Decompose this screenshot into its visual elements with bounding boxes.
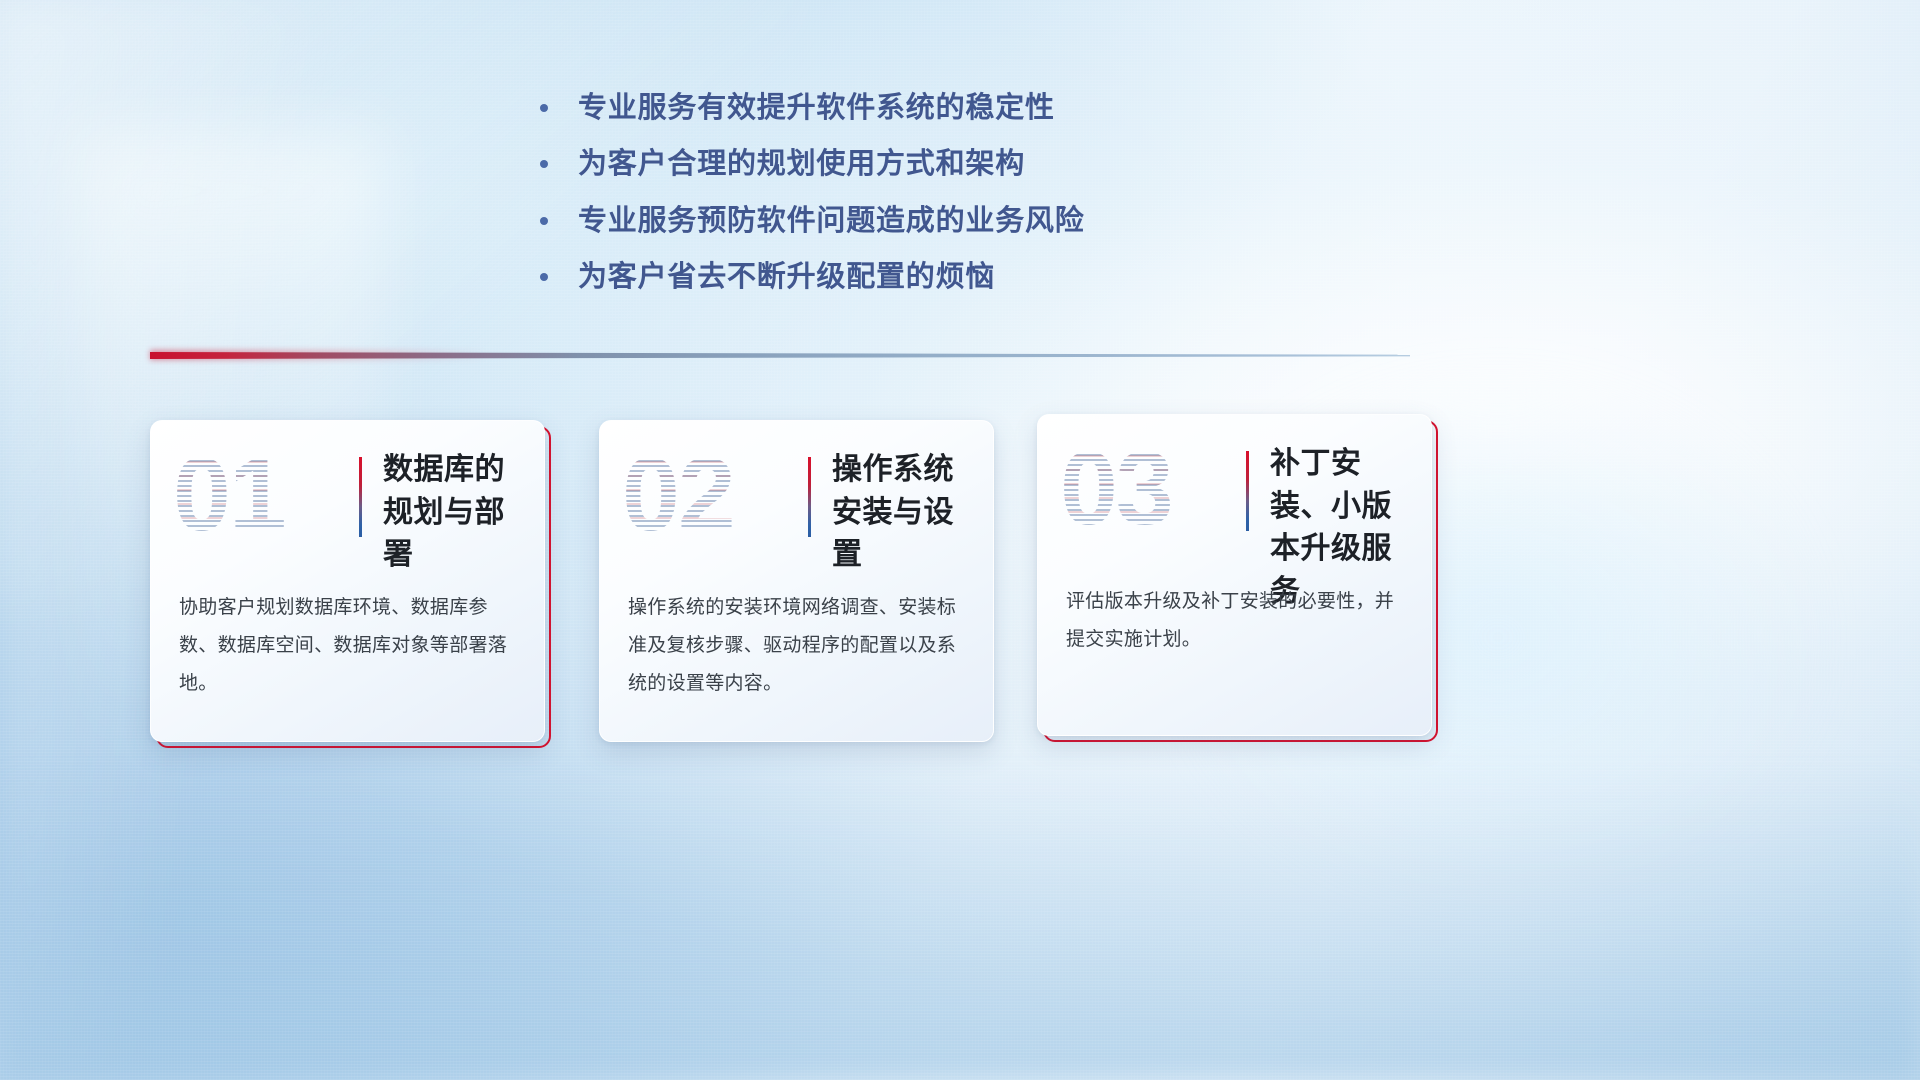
bullet-text: 专业服务预防软件问题造成的业务风险	[578, 203, 1085, 239]
card-number-watermark-tint: 01	[173, 443, 285, 547]
card-divider-bar	[1246, 451, 1249, 531]
card-header: 01 01 数据库的规划与部署	[151, 421, 544, 571]
service-card-03[interactable]: 03 03 补丁安装、小版本升级服务 评估版本升级及补丁安装的必要性，并提交实施…	[1043, 420, 1438, 742]
bullet-dot-icon	[540, 160, 548, 168]
card-surface[interactable]: 01 01 数据库的规划与部署 协助客户规划数据库环境、数据库参数、数据库空间、…	[150, 420, 545, 742]
card-description: 协助客户规划数据库环境、数据库参数、数据库空间、数据库对象等部署落地。	[179, 589, 519, 703]
list-item: 为客户省去不断升级配置的烦恼	[540, 259, 1085, 295]
card-divider-bar	[359, 457, 362, 537]
service-card-01[interactable]: 01 01 数据库的规划与部署 协助客户规划数据库环境、数据库参数、数据库空间、…	[150, 420, 545, 742]
card-description: 评估版本升级及补丁安装的必要性，并提交实施计划。	[1066, 583, 1406, 659]
bullet-dot-icon	[540, 273, 548, 281]
card-description: 操作系统的安装环境网络调查、安装标准及复核步骤、驱动程序的配置以及系统的设置等内…	[628, 589, 968, 703]
bullet-dot-icon	[540, 217, 548, 225]
card-header: 03 03 补丁安装、小版本升级服务	[1038, 415, 1431, 565]
card-title: 数据库的规划与部署	[383, 449, 529, 577]
list-item: 专业服务预防软件问题造成的业务风险	[540, 203, 1085, 239]
card-number-watermark-tint: 03	[1060, 437, 1172, 541]
section-divider	[150, 348, 1410, 364]
list-item: 为客户合理的规划使用方式和架构	[540, 146, 1085, 182]
card-surface[interactable]: 03 03 补丁安装、小版本升级服务 评估版本升级及补丁安装的必要性，并提交实施…	[1037, 414, 1432, 736]
card-title: 操作系统安装与设置	[832, 449, 978, 577]
service-card-02[interactable]: 02 02 操作系统安装与设置 操作系统的安装环境网络调查、安装标准及复核步骤、…	[599, 420, 994, 742]
card-header: 02 02 操作系统安装与设置	[600, 421, 993, 571]
card-number-watermark-tint: 02	[622, 443, 734, 547]
service-card-group: 01 01 数据库的规划与部署 协助客户规划数据库环境、数据库参数、数据库空间、…	[150, 420, 1450, 750]
bullet-text: 为客户合理的规划使用方式和架构	[578, 146, 1025, 182]
card-divider-bar	[808, 457, 811, 537]
divider-line	[150, 352, 1410, 359]
benefit-bullet-list: 专业服务有效提升软件系统的稳定性 为客户合理的规划使用方式和架构 专业服务预防软…	[540, 90, 1085, 295]
card-surface[interactable]: 02 02 操作系统安装与设置 操作系统的安装环境网络调查、安装标准及复核步骤、…	[599, 420, 994, 742]
bullet-text: 为客户省去不断升级配置的烦恼	[578, 259, 995, 295]
list-item: 专业服务有效提升软件系统的稳定性	[540, 90, 1085, 126]
bullet-text: 专业服务有效提升软件系统的稳定性	[578, 90, 1055, 126]
bullet-dot-icon	[540, 104, 548, 112]
